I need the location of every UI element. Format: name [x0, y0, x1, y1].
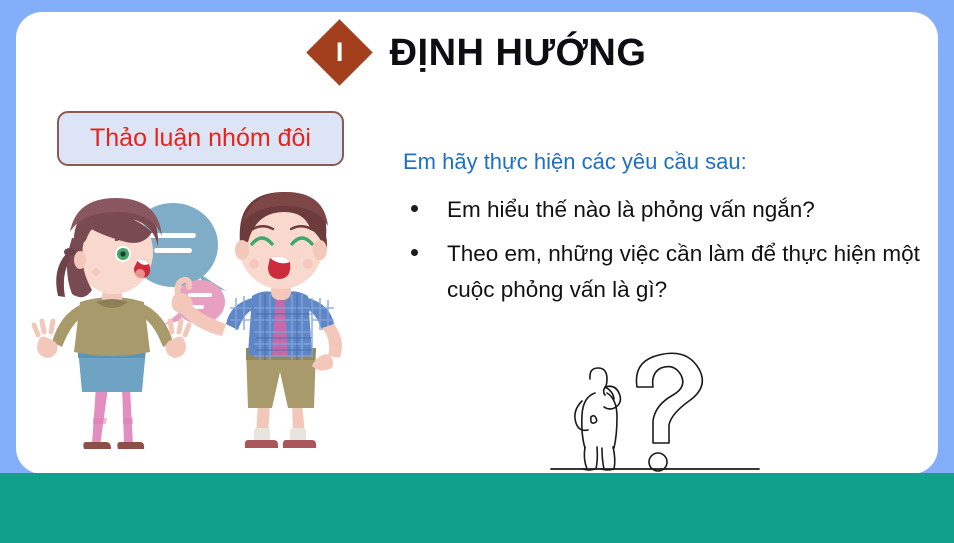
- list-item: Theo em, những việc cần làm để thực hiện…: [403, 236, 923, 309]
- page-title: ĐỊNH HƯỚNG: [390, 32, 647, 75]
- bullet-dot-icon: [411, 205, 418, 212]
- sketch-svg: [545, 335, 770, 480]
- slide-header: I ĐỊNH HƯỚNG: [16, 22, 938, 84]
- discussion-mode-badge: Thảo luận nhóm đôi: [57, 111, 344, 166]
- person-thinking-question-mark-sketch: [545, 335, 770, 480]
- task-list: Em hiểu thế nào là phỏng vấn ngắn? Theo …: [403, 192, 923, 309]
- task-bullet-text: Em hiểu thế nào là phỏng vấn ngắn?: [447, 197, 815, 222]
- two-children-talking-illustration: [30, 190, 380, 480]
- bullet-dot-icon: [411, 249, 418, 256]
- question-mark: [636, 353, 702, 471]
- task-block: Em hãy thực hiện các yêu cầu sau: Em hiể…: [403, 148, 923, 317]
- section-number-label: I: [336, 39, 344, 68]
- footer-band: [0, 473, 954, 543]
- discussion-mode-label: Thảo luận nhóm đôi: [90, 126, 311, 151]
- children-illustration-svg: [30, 190, 380, 480]
- list-item: Em hiểu thế nào là phỏng vấn ngắn?: [403, 192, 923, 228]
- section-number-badge: I: [308, 22, 372, 84]
- task-bullet-text: Theo em, những việc cần làm để thực hiện…: [447, 241, 920, 302]
- task-heading: Em hãy thực hiện các yêu cầu sau:: [403, 148, 923, 176]
- standing-figure: [575, 368, 621, 470]
